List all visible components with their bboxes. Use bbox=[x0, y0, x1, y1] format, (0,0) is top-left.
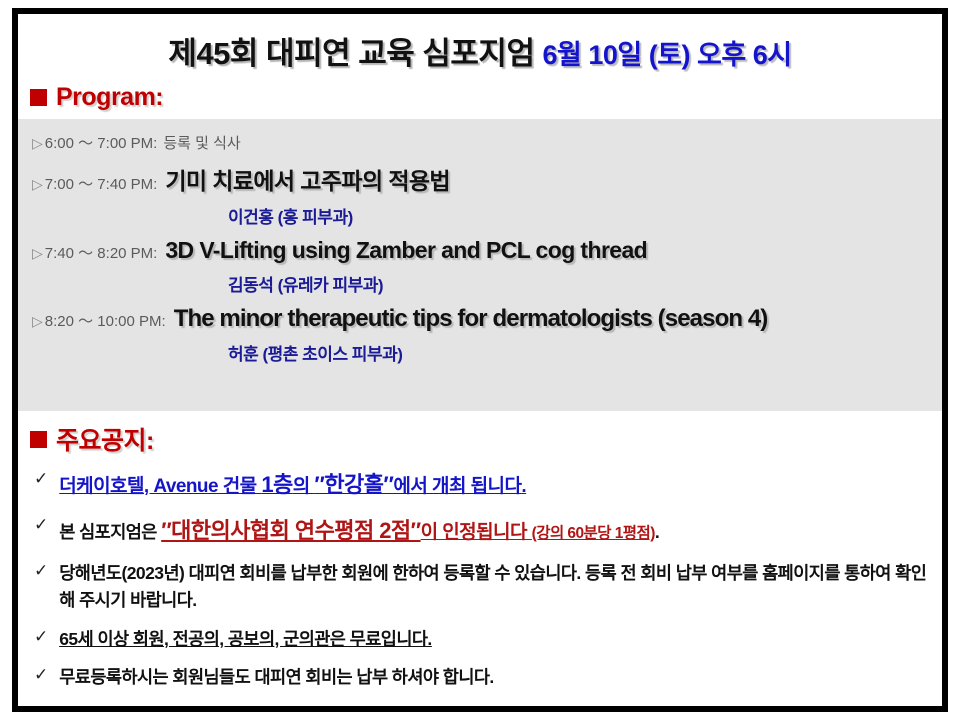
program-row: ▷ 7:00 ～ 7:40 PM: 기미 치료에서 고주파의 적용법 bbox=[18, 162, 942, 196]
notice-segment: . bbox=[655, 522, 659, 542]
program-row: ▷ 8:20 ～ 10:00 PM: The minor therapeutic… bbox=[18, 305, 942, 333]
triangle-right-icon: ▷ bbox=[32, 136, 43, 150]
notice-text: 당해년도(2023년) 대피연 회비를 납부한 회원에 한하여 등록할 수 있습… bbox=[59, 560, 930, 615]
notice-segment: 에서 개최 됩니다 bbox=[393, 476, 521, 497]
program-row: ▷ 6:00 ～ 7:00 PM: 등록 및 식사 bbox=[18, 132, 942, 153]
notice-segment: . bbox=[521, 476, 526, 497]
program-panel: ▷ 6:00 ～ 7:00 PM: 등록 및 식사 ▷ 7:00 ～ 7:40 … bbox=[18, 119, 942, 411]
notice-item: ✓ 무료등록하시는 회원님들도 대피연 회비는 납부 하셔야 합니다. bbox=[34, 664, 942, 692]
program-description: 등록 및 식사 bbox=[163, 132, 240, 153]
title-date-text: 6월 10일 (토) 오후 6시 bbox=[542, 40, 791, 70]
notice-segment: 당해년도(2023년) 대피연 회비를 납부한 회원에 한하여 등록할 수 있습… bbox=[59, 563, 926, 611]
program-row: ▷ 7:40 ～ 8:20 PM: 3D V-Lifting using Zam… bbox=[18, 237, 942, 264]
notice-segment: 더케이호텔, Avenue 건물 bbox=[59, 476, 261, 497]
check-mark-icon: ✓ bbox=[34, 664, 48, 687]
notice-text: 본 심포지엄은 ″대한의사협회 연수평점 2점″이 인정됩니다 (강의 60분당… bbox=[59, 514, 659, 549]
notice-item: ✓ 본 심포지엄은 ″대한의사협회 연수평점 2점″이 인정됩니다 (강의 60… bbox=[34, 514, 942, 549]
program-lecture-title: 기미 치료에서 고주파의 적용법 bbox=[165, 162, 450, 196]
program-section-heading: Program: bbox=[30, 83, 942, 112]
triangle-right-icon: ▷ bbox=[32, 314, 43, 328]
triangle-right-icon: ▷ bbox=[32, 177, 43, 191]
poster-frame: 제45회 대피연 교육 심포지엄6월 10일 (토) 오후 6시 Program… bbox=[12, 8, 948, 712]
program-time: 8:20 ～ 10:00 PM: bbox=[45, 310, 166, 331]
notice-segment: ″대한의사협회 연수평점 2점″ bbox=[161, 518, 420, 543]
red-square-icon bbox=[30, 89, 47, 106]
notice-text: 무료등록하시는 회원님들도 대피연 회비는 납부 하셔야 합니다. bbox=[59, 664, 493, 692]
notice-segment: (강의 60분당 1평점) bbox=[532, 525, 655, 542]
notice-segment: 이 인정됩니다 bbox=[421, 522, 532, 543]
notice-segment: 의 bbox=[293, 476, 315, 497]
program-speaker: 이건홍 (홍 피부과) bbox=[228, 203, 942, 228]
poster-title: 제45회 대피연 교육 심포지엄6월 10일 (토) 오후 6시 bbox=[18, 14, 942, 73]
notice-item: ✓ 당해년도(2023년) 대피연 회비를 납부한 회원에 한하여 등록할 수 … bbox=[34, 560, 942, 615]
program-speaker: 허훈 (평촌 초이스 피부과) bbox=[228, 340, 942, 365]
program-lecture-title: 3D V-Lifting using Zamber and PCL cog th… bbox=[165, 237, 647, 264]
notice-segment: 무료등록하시는 회원님들도 대피연 회비는 납부 하셔야 합니다. bbox=[59, 667, 493, 687]
notices-heading-label: 주요공지: bbox=[56, 421, 154, 457]
notices-section-heading: 주요공지: bbox=[30, 421, 942, 457]
notice-item: ✓ 65세 이상 회원, 전공의, 공보의, 군의관은 무료입니다. bbox=[34, 626, 942, 654]
check-mark-icon: ✓ bbox=[34, 560, 48, 583]
program-time: 6:00 ～ 7:00 PM: bbox=[45, 132, 158, 153]
notice-item: ✓ 더케이호텔, Avenue 건물 1층의 ″한강홀″에서 개최 됩니다. bbox=[34, 468, 942, 503]
red-square-icon bbox=[30, 431, 47, 448]
check-mark-icon: ✓ bbox=[34, 626, 48, 649]
check-mark-icon: ✓ bbox=[34, 468, 48, 491]
check-mark-icon: ✓ bbox=[34, 514, 48, 537]
notice-segment: 65세 이상 회원, 전공의, 공보의, 군의관은 무료입니다. bbox=[59, 629, 432, 649]
title-main-text: 제45회 대피연 교육 심포지엄 bbox=[168, 36, 534, 71]
program-lecture-title: The minor therapeutic tips for dermatolo… bbox=[174, 305, 768, 333]
program-time: 7:40 ～ 8:20 PM: bbox=[45, 242, 158, 263]
notice-segment: ″한강홀″ bbox=[314, 472, 393, 497]
notice-segment: 본 심포지엄은 bbox=[59, 522, 161, 542]
program-time: 7:00 ～ 7:40 PM: bbox=[45, 173, 158, 194]
program-heading-label: Program: bbox=[56, 83, 163, 112]
notice-text: 65세 이상 회원, 전공의, 공보의, 군의관은 무료입니다. bbox=[59, 626, 432, 654]
program-speaker: 김동석 (유레카 피부과) bbox=[228, 271, 942, 296]
triangle-right-icon: ▷ bbox=[32, 246, 43, 260]
notice-text: 더케이호텔, Avenue 건물 1층의 ″한강홀″에서 개최 됩니다. bbox=[59, 468, 526, 503]
notice-list: ✓ 더케이호텔, Avenue 건물 1층의 ″한강홀″에서 개최 됩니다. ✓… bbox=[18, 468, 942, 692]
notice-segment: 1층 bbox=[261, 472, 292, 497]
